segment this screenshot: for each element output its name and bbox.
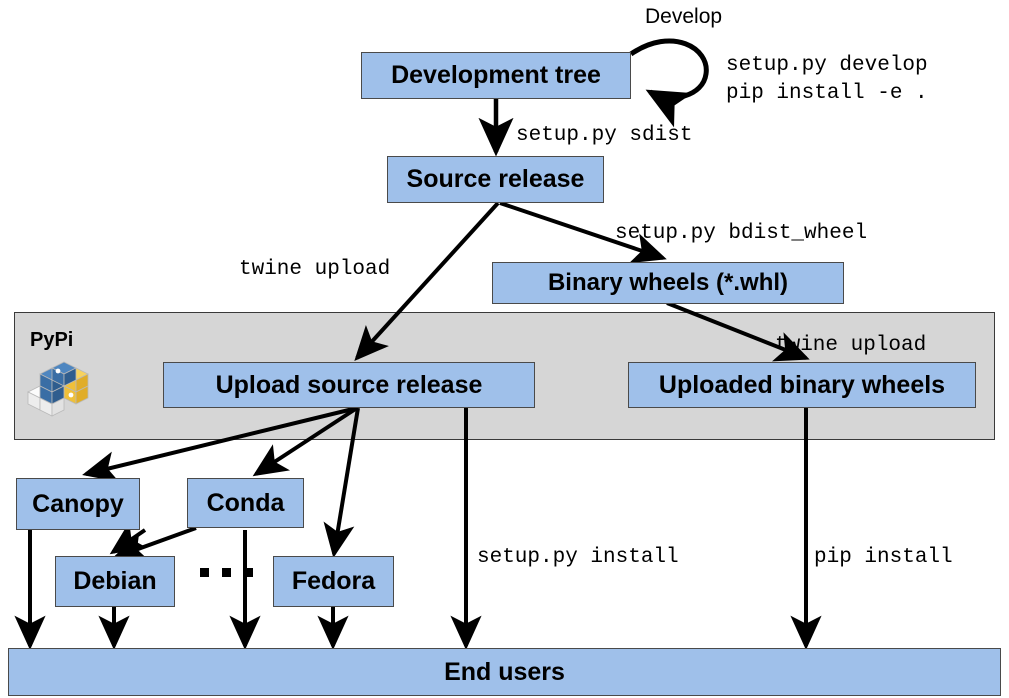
pypi-region-label: PyPi (30, 329, 73, 352)
node-end-users[interactable]: End users (8, 648, 1001, 696)
ellipsis-dots (200, 568, 253, 577)
node-debian[interactable]: Debian (55, 556, 175, 607)
label-develop-commands: setup.py develop pip install -e . (726, 52, 928, 107)
node-uploaded-binary-wheels[interactable]: Uploaded binary wheels (628, 362, 976, 408)
edge-develop-selfloop (631, 41, 706, 98)
node-canopy[interactable]: Canopy (16, 478, 140, 530)
pypi-python-cubes-logo (24, 356, 96, 418)
label-develop: Develop (645, 5, 722, 29)
label-setup-py-bdist-wheel: setup.py bdist_wheel (615, 220, 867, 248)
node-source-release[interactable]: Source release (387, 156, 604, 203)
node-development-tree[interactable]: Development tree (361, 52, 631, 99)
label-twine-upload-source: twine upload (239, 256, 390, 284)
label-pip-install: pip install (814, 544, 953, 572)
node-conda[interactable]: Conda (187, 478, 304, 528)
edge-canopy-to-debian (113, 530, 145, 552)
edge-conda-to-debian (116, 528, 196, 557)
ellipsis-dot (200, 568, 209, 577)
ellipsis-dot (244, 568, 253, 577)
label-twine-upload-wheels: twine upload (775, 332, 926, 360)
node-fedora[interactable]: Fedora (273, 556, 394, 607)
label-setup-py-install: setup.py install (477, 544, 679, 572)
label-setup-py-sdist: setup.py sdist (516, 122, 692, 150)
diagram-canvas: PyPi (0, 0, 1009, 698)
node-upload-source-release[interactable]: Upload source release (163, 362, 535, 408)
node-binary-wheels[interactable]: Binary wheels (*.whl) (492, 262, 844, 304)
ellipsis-dot (222, 568, 231, 577)
